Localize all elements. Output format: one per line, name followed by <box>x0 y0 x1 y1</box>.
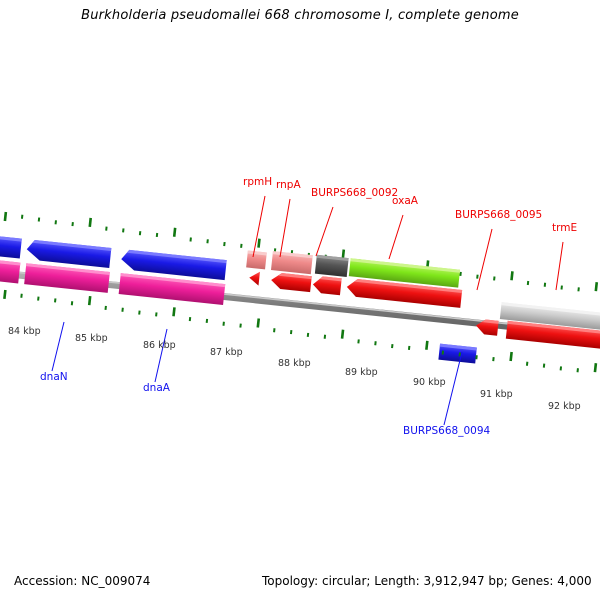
gene-feature-red-arrow-3[interactable] <box>312 275 342 295</box>
gene-feature-magenta-1[interactable] <box>0 257 20 284</box>
scale-tick-label: 86 kbp <box>143 340 176 351</box>
scale-tick-label: 92 kbp <box>548 401 581 412</box>
leader-line-BURPS668_0095 <box>477 229 492 290</box>
leader-line-BURPS668_0092 <box>316 207 333 256</box>
leader-line-oxaA <box>389 215 403 259</box>
gene-label-rnpA[interactable]: rnpA <box>276 179 301 191</box>
gene-feature-dnaN[interactable] <box>26 239 112 268</box>
scale-tick-label: 88 kbp <box>278 358 311 369</box>
genome-summary-text: Topology: circular; Length: 3,912,947 bp… <box>262 574 592 588</box>
gene-feature-blue-1[interactable] <box>0 233 22 259</box>
gene-label-oxaA[interactable]: oxaA <box>392 195 419 207</box>
gene-label-dnaN[interactable]: dnaN <box>40 371 68 383</box>
gene-feature-red-arrow-2[interactable] <box>270 272 311 292</box>
gene-feature-BURPS668_0092[interactable] <box>315 255 349 277</box>
accession-text: Accession: NC_009074 <box>14 574 150 588</box>
scale-tick-label: 89 kbp <box>345 367 378 378</box>
leader-line-trmE <box>556 242 563 290</box>
gene-label-trmE[interactable]: trmE <box>552 222 577 234</box>
gene-label-BURPS668_0094[interactable]: BURPS668_0094 <box>403 425 491 437</box>
leader-line-dnaA <box>155 329 167 382</box>
scale-tick-label: 85 kbp <box>75 333 108 344</box>
gene-label-dnaA[interactable]: dnaA <box>143 382 171 394</box>
gene-labels-above: rpmH rnpA BURPS668_0092 oxaA BURPS668_00… <box>243 176 577 234</box>
scale-tick-label: 90 kbp <box>413 377 446 388</box>
gene-label-BURPS668_0095[interactable]: BURPS668_0095 <box>455 209 542 221</box>
leader-line-rpmH <box>253 196 265 257</box>
gene-feature-BURPS668_0094[interactable] <box>438 344 476 364</box>
leader-line-BURPS668_0094 <box>444 352 462 425</box>
scale-tick-label: 84 kbp <box>8 326 41 337</box>
gene-feature-red-arrow-1[interactable] <box>249 271 260 286</box>
scale-tick-label: 87 kbp <box>210 347 243 358</box>
gene-label-BURPS668_0092[interactable]: BURPS668_0092 <box>311 187 398 199</box>
genome-map-canvas: rpmH rnpA BURPS668_0092 oxaA BURPS668_00… <box>0 0 600 600</box>
gene-label-rpmH[interactable]: rpmH <box>243 176 272 188</box>
gene-feature-rpmH[interactable] <box>246 250 267 269</box>
leader-lines-below <box>52 322 462 425</box>
genome-map-viewer: Burkholderia pseudomallei 668 chromosome… <box>0 0 600 600</box>
gene-feature-magenta-2[interactable] <box>24 263 110 293</box>
leader-line-rnpA <box>280 199 290 257</box>
scale-tick-labels: 84 kbp 85 kbp 86 kbp 87 kbp 88 kbp 89 kb… <box>8 326 581 412</box>
gene-feature-rnpA[interactable] <box>271 251 313 274</box>
scale-tick-label: 91 kbp <box>480 389 513 400</box>
leader-line-dnaN <box>52 322 64 371</box>
